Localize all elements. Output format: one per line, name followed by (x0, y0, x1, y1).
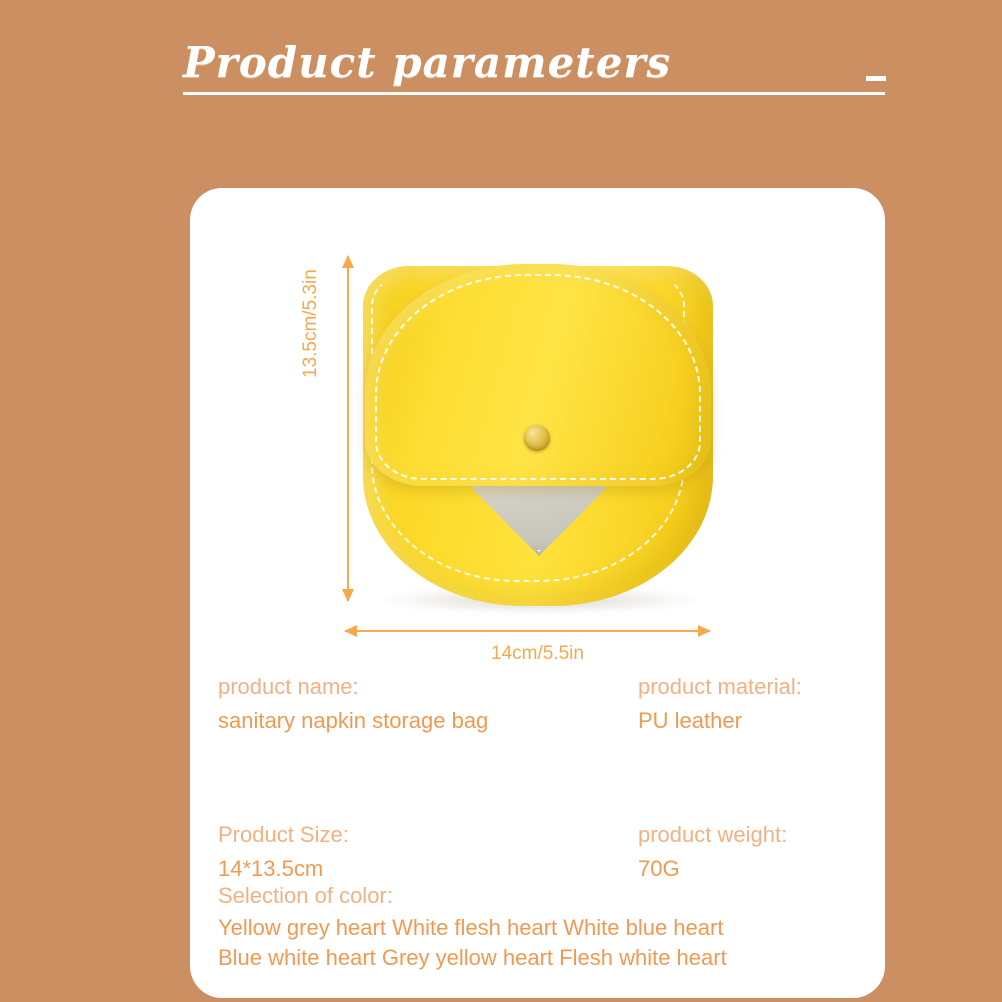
spec-label: product name: (218, 670, 488, 704)
height-dimension-arrow (347, 256, 349, 601)
spec-product-name: product name: sanitary napkin storage ba… (218, 670, 488, 738)
spec-label: Product Size: (218, 818, 349, 852)
page-header: Product parameters (0, 0, 1002, 120)
product-parameters-card: 13.5cm/5.3in 14cm/5.5in product name: sa… (190, 188, 885, 998)
spec-label: product weight: (638, 818, 787, 852)
page-title: Product parameters (183, 38, 671, 87)
spec-label: product material: (638, 670, 802, 704)
spec-value: sanitary napkin storage bag (218, 704, 488, 738)
spec-product-size: Product Size: 14*13.5cm (218, 818, 349, 886)
spec-product-material: product material: PU leather (638, 670, 802, 738)
color-selection-label: Selection of color: (218, 878, 727, 913)
height-dimension-label: 13.5cm/5.3in (300, 269, 322, 378)
width-dimension-arrow (345, 630, 710, 632)
color-selection-line-1: Yellow grey heart White flesh heart Whit… (218, 913, 727, 943)
spec-value: PU leather (638, 704, 802, 738)
specifications-list: product name: sanitary napkin storage ba… (190, 670, 885, 966)
width-dimension-label: 14cm/5.5in (190, 643, 885, 665)
spec-color-selection: Selection of color: Yellow grey heart Wh… (218, 878, 727, 973)
dash-mark-icon (866, 76, 886, 81)
color-selection-line-2: Blue white heart Grey yellow heart Flesh… (218, 943, 727, 973)
spec-product-weight: product weight: 70G (638, 818, 787, 886)
title-underline-rule (183, 92, 885, 95)
product-photo-area: 13.5cm/5.3in 14cm/5.5in (190, 188, 885, 658)
product-bag-illustration (353, 258, 723, 608)
snap-button-icon (524, 425, 550, 451)
spec-row: product name: sanitary napkin storage ba… (190, 670, 885, 818)
